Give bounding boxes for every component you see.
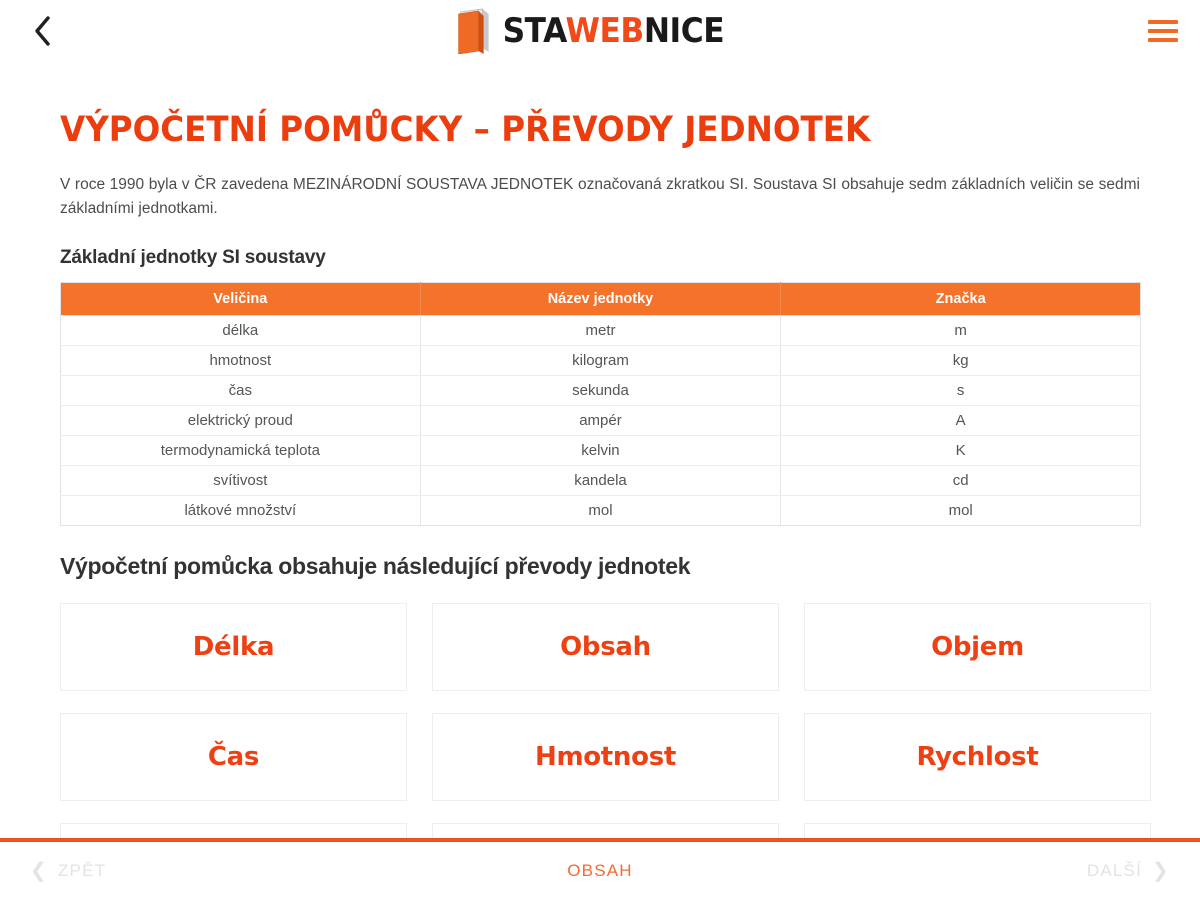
cell-quantity: látkové množství — [61, 496, 421, 526]
column-header-unit-name: Název jednotky — [420, 283, 781, 316]
cell-quantity: délka — [61, 316, 421, 346]
site-logo[interactable]: STAWEBNICE — [457, 8, 744, 54]
chevron-left-icon: ❮ — [30, 861, 48, 881]
converter-card-label: Délka — [193, 632, 274, 662]
table-row: svítivost kandela cd — [61, 466, 1141, 496]
converter-card-label: Hmotnost — [535, 742, 676, 772]
table-row: délka metr m — [61, 316, 1141, 346]
next-page-label: DALŠÍ — [1087, 861, 1142, 881]
hamburger-bar — [1148, 38, 1178, 42]
si-units-table: Veličina Název jednotky Značka délka met… — [60, 282, 1141, 526]
prev-page-button[interactable]: ❮ ZPĚT — [30, 861, 106, 881]
cell-symbol: m — [781, 316, 1141, 346]
cell-quantity: čas — [61, 376, 421, 406]
cell-quantity: hmotnost — [61, 346, 421, 376]
column-header-quantity: Veličina — [61, 283, 421, 316]
converter-card-rychlost[interactable]: Rychlost — [804, 713, 1151, 801]
converter-card-hmotnost[interactable]: Hmotnost — [432, 713, 779, 801]
table-head: Veličina Název jednotky Značka — [61, 283, 1141, 316]
pager-footer: ❮ ZPĚT OBSAH DALŠÍ ❯ — [0, 838, 1200, 900]
chevron-left-icon — [32, 15, 52, 47]
table-header-row: Veličina Název jednotky Značka — [61, 283, 1141, 316]
next-page-button[interactable]: DALŠÍ ❯ — [1087, 861, 1170, 881]
cell-quantity: svítivost — [61, 466, 421, 496]
site-header: STAWEBNICE — [0, 0, 1200, 62]
cell-unit-name: ampér — [420, 406, 781, 436]
converter-card-objem[interactable]: Objem — [804, 603, 1151, 691]
cell-quantity: termodynamická teplota — [61, 436, 421, 466]
logo-wordmark: STAWEBNICE — [503, 14, 725, 48]
chevron-right-icon: ❯ — [1152, 861, 1170, 881]
prev-page-label: ZPĚT — [58, 861, 106, 881]
cell-symbol: mol — [781, 496, 1141, 526]
cell-unit-name: kilogram — [420, 346, 781, 376]
contents-button[interactable]: OBSAH — [567, 861, 633, 881]
logo-text-nice: NICE — [644, 11, 724, 51]
table-body: délka metr m hmotnost kilogram kg čas se… — [61, 316, 1141, 526]
table-row: čas sekunda s — [61, 376, 1141, 406]
table-row: termodynamická teplota kelvin K — [61, 436, 1141, 466]
book-icon — [457, 8, 493, 54]
cell-symbol: kg — [781, 346, 1141, 376]
converter-card-obsah[interactable]: Obsah — [432, 603, 779, 691]
cell-unit-name: sekunda — [420, 376, 781, 406]
cell-unit-name: kandela — [420, 466, 781, 496]
intro-paragraph: V roce 1990 byla v ČR zavedena MEZINÁROD… — [60, 173, 1140, 221]
cell-symbol: K — [781, 436, 1141, 466]
column-header-symbol: Značka — [781, 283, 1141, 316]
table-heading: Základní jednotky SI soustavy — [60, 247, 1140, 269]
converter-card-label: Rychlost — [916, 742, 1038, 772]
converter-card-label: Čas — [208, 742, 259, 772]
converter-card-delka[interactable]: Délka — [60, 603, 407, 691]
main-content: VÝPOČETNÍ POMŮCKY – PŘEVODY JEDNOTEK V r… — [0, 62, 1200, 900]
cell-unit-name: mol — [420, 496, 781, 526]
cell-symbol: cd — [781, 466, 1141, 496]
cell-symbol: s — [781, 376, 1141, 406]
back-button[interactable] — [22, 11, 62, 51]
converter-card-label: Objem — [931, 632, 1024, 662]
logo-text-web: WEB — [565, 11, 643, 51]
converters-heading: Výpočetní pomůcka obsahuje následující p… — [60, 553, 1140, 580]
cell-symbol: A — [781, 406, 1141, 436]
converter-card-cas[interactable]: Čas — [60, 713, 407, 801]
page-title: VÝPOČETNÍ POMŮCKY – PŘEVODY JEDNOTEK — [60, 110, 1064, 150]
cell-unit-name: metr — [420, 316, 781, 346]
hamburger-bar — [1148, 20, 1178, 24]
table-row: hmotnost kilogram kg — [61, 346, 1141, 376]
hamburger-bar — [1148, 29, 1178, 33]
converter-card-label: Obsah — [560, 632, 651, 662]
cell-unit-name: kelvin — [420, 436, 781, 466]
hamburger-menu-icon[interactable] — [1138, 11, 1178, 51]
logo-text-sta: STA — [503, 11, 566, 51]
cell-quantity: elektrický proud — [61, 406, 421, 436]
table-row: látkové množství mol mol — [61, 496, 1141, 526]
contents-label: OBSAH — [567, 861, 633, 881]
table-row: elektrický proud ampér A — [61, 406, 1141, 436]
